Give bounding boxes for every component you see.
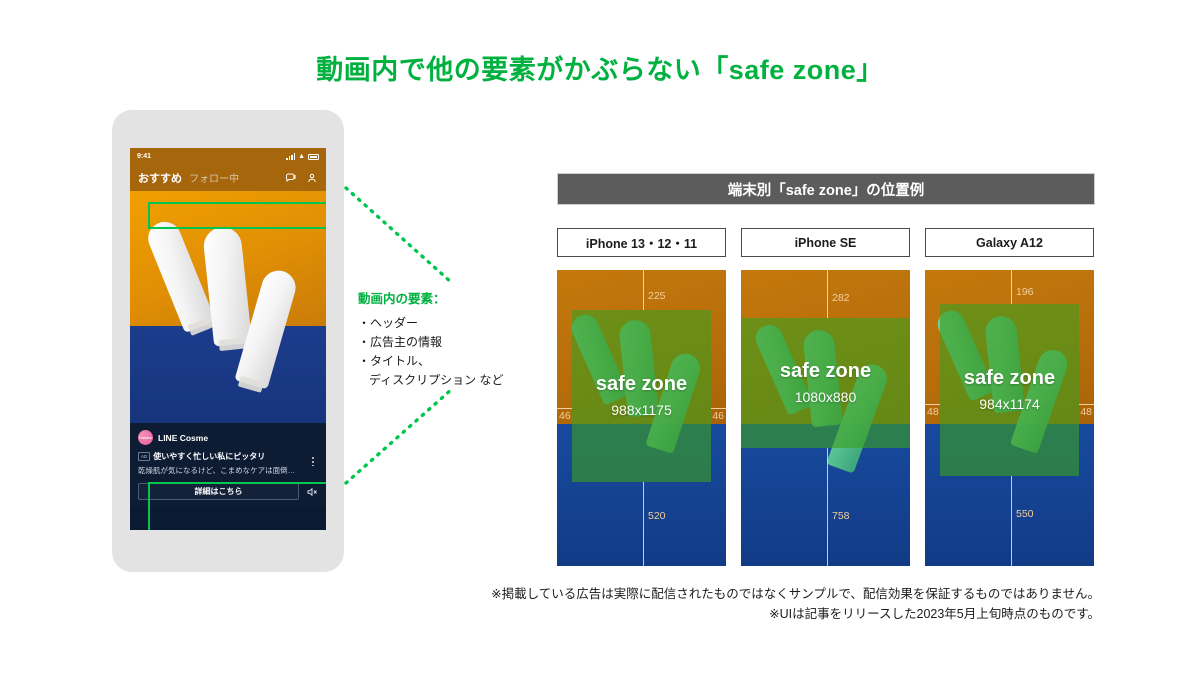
safe-zone-overlay: safe zone 984x1174 [940,304,1079,476]
bottom-margin-value: 520 [648,510,666,522]
device-figure: safe zone 1080x880 282 758 [741,270,910,566]
advertiser-name: LINE Cosme [158,433,208,443]
kebab-menu-icon[interactable] [308,451,318,466]
panel-heading: 端末別「safe zone」の位置例 [557,173,1095,205]
measure-line [925,404,940,405]
connector-line-ad [346,389,452,483]
slide-root: 動画内で他の要素がかぶらない「safe zone」 9:41 ▲ おすすめ フォ… [0,0,1200,675]
safe-zone-dimensions: 988x1175 [611,402,671,418]
device-column-galaxya12: Galaxy A12 safe zone 984x1174 196 550 48 [925,228,1094,566]
signal-bars-icon [286,153,295,160]
measure-line [1011,270,1012,304]
tab-recommended[interactable]: おすすめ [138,170,182,186]
annotation-heading: 動画内の要素： [358,288,558,307]
bottom-margin-value: 758 [832,510,850,522]
measure-line [1079,404,1094,405]
footer-note: ※掲載している広告は実際に配信されたものではなくサンプルで、配信効果を保証するも… [491,584,1100,604]
top-margin-value: 225 [648,290,666,302]
ad-description: 乾燥肌が気になるけど、こまめなケアは面倒… [138,465,308,476]
phone-mockup: 9:41 ▲ おすすめ フォロー中 [112,110,344,572]
right-margin-value: 48 [1080,406,1092,418]
chat-icon[interactable] [285,172,297,184]
safe-zone-dimensions: 984x1174 [979,396,1039,412]
annotation-item: ・広告主の情報 [358,333,558,352]
ad-headline: 使いやすく忙しい私にピッタリ [153,451,265,462]
device-columns: iPhone 13・12・11 safe zone 988x1175 225 5… [557,228,1095,566]
avatar: Cosme [138,430,153,445]
device-label: Galaxy A12 [925,228,1094,257]
safe-zone-overlay: safe zone 988x1175 [572,310,711,482]
page-title: 動画内で他の要素がかぶらない「safe zone」 [0,48,1200,87]
connector-line-header [346,188,452,283]
wifi-icon: ▲ [298,153,305,160]
safe-zone-label: safe zone [964,368,1055,388]
annotation-item: ディスクリプション など [358,371,558,390]
ad-texts: AD 使いやすく忙しい私にピッタリ 乾燥肌が気になるけど、こまめなケアは面倒… [138,451,308,476]
measure-line [827,448,828,566]
top-margin-value: 282 [832,292,850,304]
ad-cta-row: 詳細はこちら [138,483,318,500]
ad-headline-row: AD 使いやすく忙しい私にピッタリ [138,451,308,462]
bottom-margin-value: 550 [1016,508,1034,520]
battery-icon [308,154,319,160]
safe-zone-overlay: safe zone 1080x880 [741,318,910,448]
measure-line [557,408,572,409]
person-icon[interactable] [306,172,318,184]
device-label: iPhone SE [741,228,910,257]
footer-note: ※UIは記事をリリースした2023年5月上旬時点のものです。 [491,604,1100,624]
device-label: iPhone 13・12・11 [557,228,726,257]
safe-zone-label: safe zone [596,374,687,394]
ad-badge: AD [138,452,150,461]
footer-notes: ※掲載している広告は実際に配信されたものではなくサンプルで、配信効果を保証するも… [491,584,1100,624]
device-column-iphone13: iPhone 13・12・11 safe zone 988x1175 225 5… [557,228,726,566]
measure-line [1011,476,1012,566]
left-margin-value: 46 [559,410,571,422]
annotation-block: 動画内の要素： ・ヘッダー ・広告主の情報 ・タイトル、 ディスクリプション な… [358,288,558,390]
left-margin-value: 48 [927,406,939,418]
ad-card: Cosme LINE Cosme AD 使いやすく忙しい私にピッタリ 乾燥肌が気… [130,423,326,508]
speaker-mute-icon[interactable] [306,486,318,498]
device-column-iphonese: iPhone SE safe zone 1080x880 282 758 [741,228,910,566]
phone-screen: 9:41 ▲ おすすめ フォロー中 [130,148,326,530]
device-figure: safe zone 984x1174 196 550 48 48 [925,270,1094,566]
measure-line [643,482,644,566]
measure-line [827,270,828,318]
measure-line [711,408,726,409]
safe-zone-dimensions: 1080x880 [795,389,857,405]
header-icons [285,172,318,184]
advertiser-row: Cosme LINE Cosme [138,430,318,445]
video-header: おすすめ フォロー中 [130,164,326,191]
video-media [130,191,326,423]
ad-text-row: AD 使いやすく忙しい私にピッタリ 乾燥肌が気になるけど、こまめなケアは面倒… [138,451,318,476]
measure-line [643,270,644,310]
status-icons: ▲ [286,153,319,160]
ad-cta-button[interactable]: 詳細はこちら [138,483,299,500]
annotation-item: ・タイトル、 [358,352,558,371]
annotation-item: ・ヘッダー [358,314,558,333]
tab-following[interactable]: フォロー中 [189,170,239,185]
safe-zone-label: safe zone [780,361,871,381]
top-margin-value: 196 [1016,286,1034,298]
status-bar: 9:41 ▲ [130,148,326,164]
right-margin-value: 46 [712,410,724,422]
status-time: 9:41 [137,153,151,160]
device-figure: safe zone 988x1175 225 520 46 46 [557,270,726,566]
